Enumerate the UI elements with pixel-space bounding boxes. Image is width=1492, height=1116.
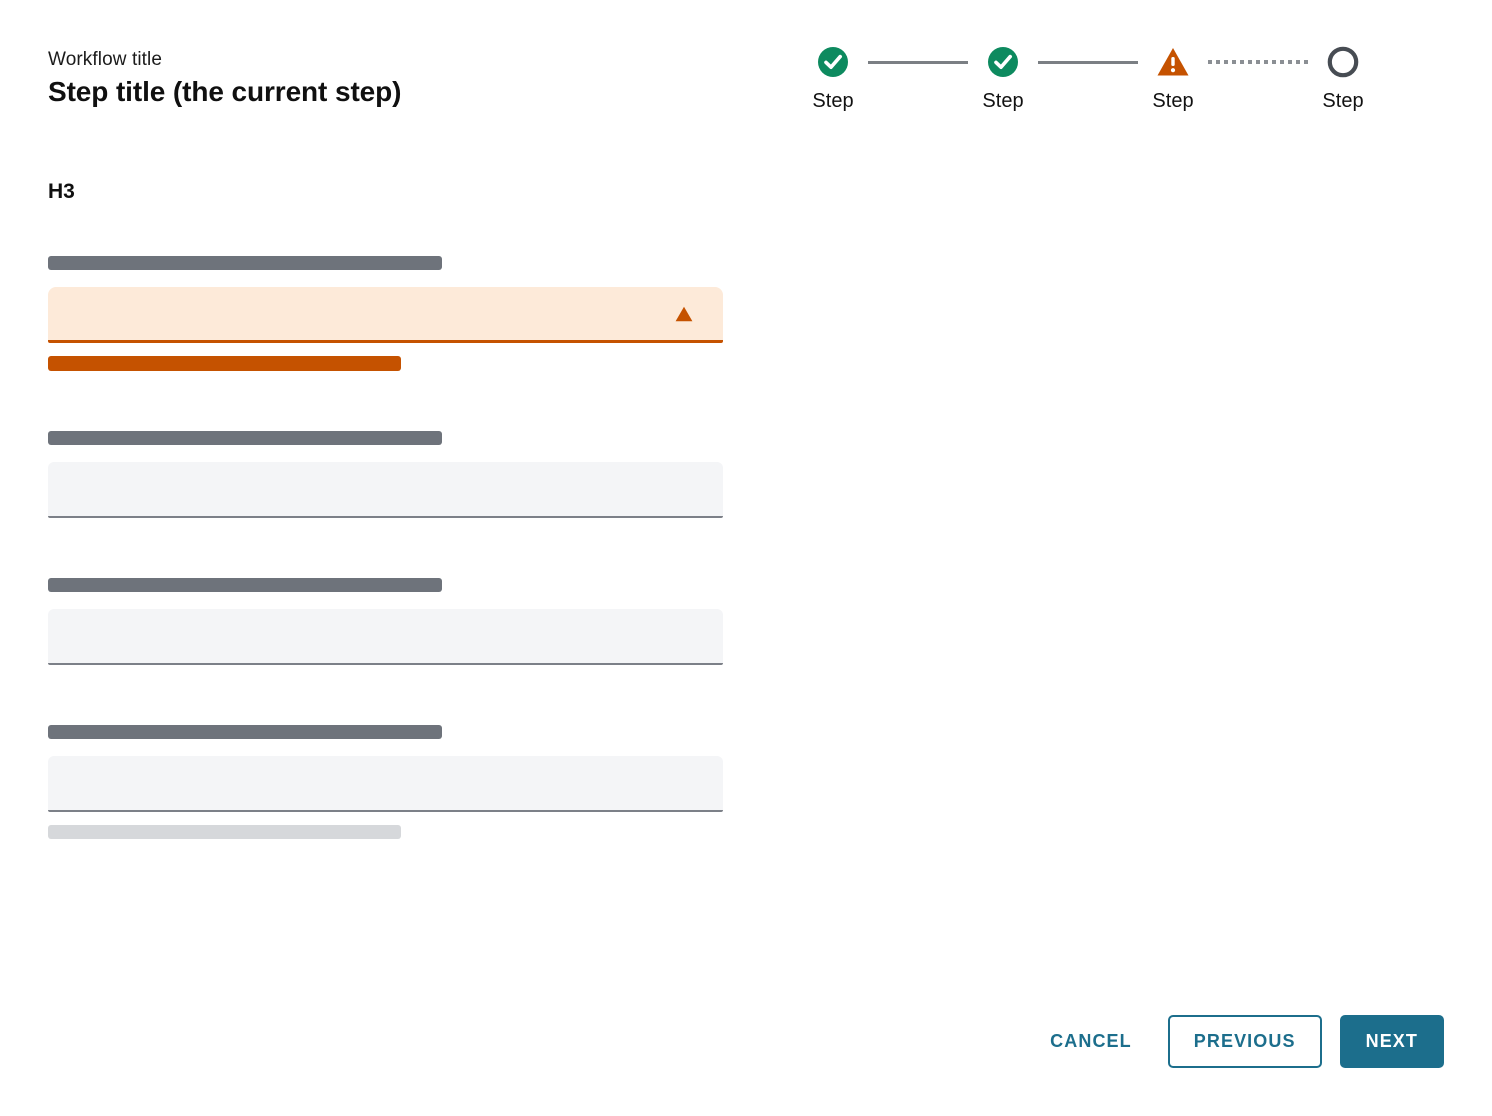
text-input[interactable] (48, 462, 723, 518)
field-label-placeholder (48, 256, 442, 270)
empty-circle-icon (1326, 45, 1360, 79)
cancel-button[interactable]: CANCEL (1032, 1019, 1150, 1064)
field-helper-text-placeholder (48, 825, 401, 839)
section-heading: H3 (48, 178, 723, 206)
stepper-connector-3 (1206, 45, 1310, 79)
workflow-stepper: Step Step S (800, 45, 1376, 113)
workflow-title: Workflow title (48, 48, 748, 72)
form-content: H3 (48, 178, 723, 871)
warning-triangle-icon (675, 306, 693, 322)
form-field-group-2 (48, 431, 723, 518)
stepper-connector-2 (1036, 45, 1140, 79)
text-input-error[interactable] (48, 287, 723, 343)
stepper-item-2[interactable]: Step (970, 45, 1036, 113)
stepper-item-4[interactable]: Step (1310, 45, 1376, 113)
check-circle-icon (986, 45, 1020, 79)
stepper-item-label: Step (1152, 89, 1193, 113)
check-circle-icon (816, 45, 850, 79)
text-input[interactable] (48, 756, 723, 812)
form-field-group-3 (48, 578, 723, 665)
stepper-item-label: Step (982, 89, 1023, 113)
page-header: Workflow title Step title (the current s… (48, 48, 748, 110)
text-input[interactable] (48, 609, 723, 665)
page-title: Step title (the current step) (48, 74, 748, 110)
previous-button[interactable]: PREVIOUS (1168, 1015, 1322, 1068)
stepper-item-label: Step (812, 89, 853, 113)
stepper-item-1[interactable]: Step (800, 45, 866, 113)
field-label-placeholder (48, 578, 442, 592)
field-label-placeholder (48, 431, 442, 445)
form-field-group-4 (48, 725, 723, 839)
field-error-message-placeholder (48, 356, 401, 371)
field-label-placeholder (48, 725, 442, 739)
form-field-group-1 (48, 256, 723, 371)
workflow-step-page: Workflow title Step title (the current s… (0, 0, 1492, 1116)
next-button[interactable]: NEXT (1340, 1015, 1444, 1068)
stepper-connector-1 (866, 45, 970, 79)
form-actions: CANCEL PREVIOUS NEXT (1032, 1015, 1444, 1068)
stepper-item-3[interactable]: Step (1140, 45, 1206, 113)
stepper-item-label: Step (1322, 89, 1363, 113)
warning-triangle-icon (1156, 45, 1190, 79)
